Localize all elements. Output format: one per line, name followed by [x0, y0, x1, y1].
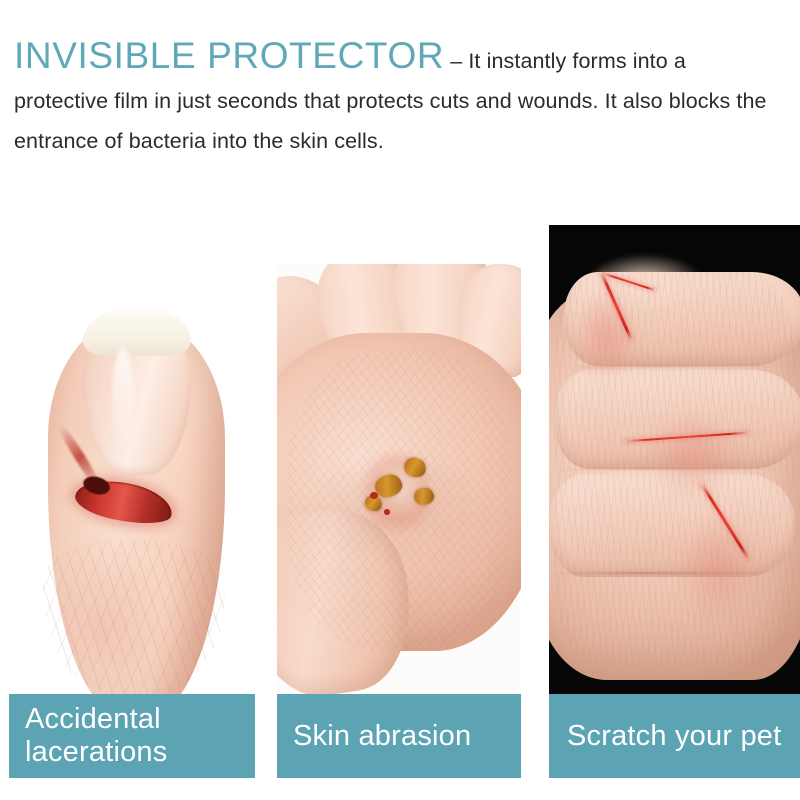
scratch-blush-2 [649, 413, 734, 497]
panel-accidental-lacerations[interactable]: Accidental lacerations [9, 310, 255, 778]
headline-paragraph: INVISIBLE PROTECTOR – It instantly forms… [14, 36, 786, 161]
fingernail-tip-shape [83, 310, 191, 356]
hand-illustration-abrasion [277, 264, 521, 694]
caption-bar-scratch-your-pet: Scratch your pet [549, 694, 800, 778]
caption-line-1: Skin abrasion [293, 720, 521, 753]
use-case-panel-strip: Accidental lacerations [0, 222, 800, 778]
blood-spot-2 [384, 509, 390, 515]
photo-skin-abrasion [277, 264, 521, 694]
photo-pet-scratches [549, 225, 800, 694]
page-title: INVISIBLE PROTECTOR [14, 35, 444, 76]
photo-lacerated-fingertip [9, 310, 255, 694]
panel-scratch-your-pet[interactable]: Scratch your pet [549, 225, 800, 778]
caption-bar-skin-abrasion: Skin abrasion [277, 694, 521, 778]
blood-spot-1 [370, 492, 378, 499]
finger-skin-texture [43, 540, 225, 694]
finger-illustration [9, 310, 255, 694]
scratch-blush-3 [680, 516, 755, 619]
header-copy-block: INVISIBLE PROTECTOR – It instantly forms… [14, 36, 786, 161]
caption-line-2: lacerations [25, 736, 255, 769]
caption-line-1: Scratch your pet [567, 720, 800, 753]
panel-skin-abrasion[interactable]: Skin abrasion [277, 264, 521, 778]
caption-bar-accidental-lacerations: Accidental lacerations [9, 694, 255, 778]
caption-line-1: Accidental [25, 703, 255, 736]
hand-illustration-scratches [549, 225, 800, 694]
